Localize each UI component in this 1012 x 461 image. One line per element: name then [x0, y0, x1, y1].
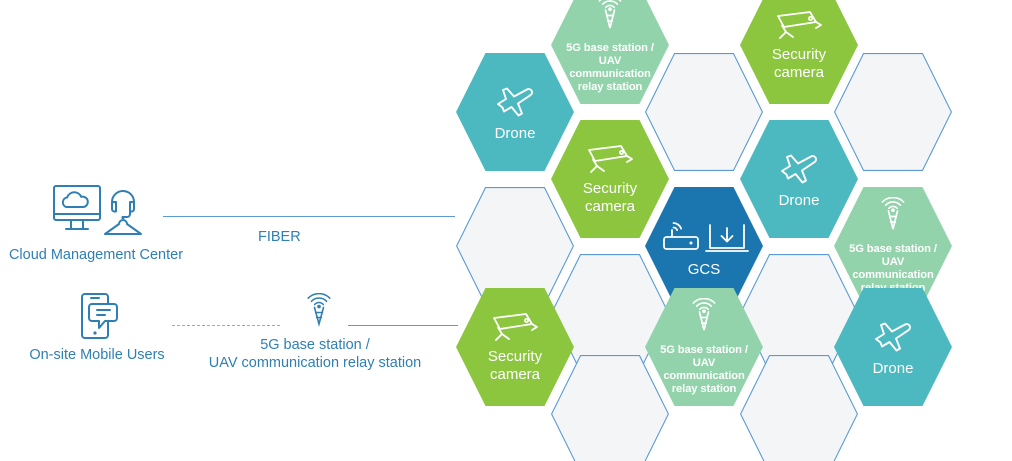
- hexagon-label: Security camera: [474, 348, 556, 383]
- antenna-tower-icon: [681, 298, 727, 340]
- hexagon-label: Security camera: [569, 180, 651, 215]
- gcs-router-laptop-icon: [658, 213, 750, 257]
- relay-antenna-tower-icon: [296, 293, 342, 342]
- hexagon-label: Drone: [481, 125, 550, 143]
- drone-plane-icon: [772, 148, 826, 188]
- cloud-management-center-label: Cloud Management Center: [9, 246, 183, 264]
- hexagon-label: 5G base station / UAV communication rela…: [834, 243, 952, 296]
- hexagon-label: Security camera: [758, 46, 840, 81]
- hexagon-camera-cell[interactable]: Security camera: [740, 0, 858, 104]
- hexagon-label: GCS: [674, 261, 735, 279]
- on-site-mobile-users-label: On-site Mobile Users: [29, 346, 164, 364]
- mobile-chat-icon: [66, 290, 128, 342]
- network-architecture-diagram: FIBER 5G base station / UAV communicatio…: [0, 0, 1012, 461]
- relay-link-label-line2: UAV communication relay station: [197, 354, 433, 372]
- hexagon-drone-cell[interactable]: Drone: [456, 53, 574, 171]
- hexagon-empty: [740, 355, 858, 461]
- fiber-link-label: FIBER: [258, 228, 301, 246]
- cloud-management-center-node[interactable]: Cloud Management Center: [6, 180, 186, 264]
- mobile-dashed-connector-line: [172, 325, 280, 326]
- antenna-tower-icon: [587, 0, 633, 38]
- cloud-monitor-headset-icon: [42, 180, 150, 242]
- hexagon-relay-cell[interactable]: 5G base station / UAV communication rela…: [834, 187, 952, 305]
- relay-to-grid-connector-line: [348, 325, 458, 326]
- hexagon-empty: [551, 355, 669, 461]
- drone-plane-icon: [866, 316, 920, 356]
- relay-link-label-line1: 5G base station /: [197, 336, 433, 354]
- hexagon-label: 5G base station / UAV communication rela…: [645, 344, 763, 397]
- security-camera-icon: [583, 142, 637, 176]
- security-camera-icon: [488, 310, 542, 344]
- fiber-connector-line: [163, 216, 455, 217]
- hexagon-empty: [645, 53, 763, 171]
- relay-link-label: 5G base station / UAV communication rela…: [197, 336, 433, 372]
- hexagon-camera-cell[interactable]: Security camera: [551, 120, 669, 238]
- on-site-mobile-users-node[interactable]: On-site Mobile Users: [22, 290, 172, 364]
- hexagon-empty: [834, 53, 952, 171]
- hexagon-label: 5G base station / UAV communication rela…: [551, 42, 669, 95]
- hexagon-label: Drone: [859, 360, 928, 378]
- hexagon-label: Drone: [765, 192, 834, 210]
- hexagon-relay-cell[interactable]: 5G base station / UAV communication rela…: [551, 0, 669, 104]
- security-camera-icon: [772, 8, 826, 42]
- hexagon-gcs-cell[interactable]: GCS: [645, 187, 763, 305]
- hexagon-empty: [456, 187, 574, 305]
- drone-plane-icon: [488, 81, 542, 121]
- hexagon-drone-cell[interactable]: Drone: [740, 120, 858, 238]
- antenna-tower-icon: [870, 197, 916, 239]
